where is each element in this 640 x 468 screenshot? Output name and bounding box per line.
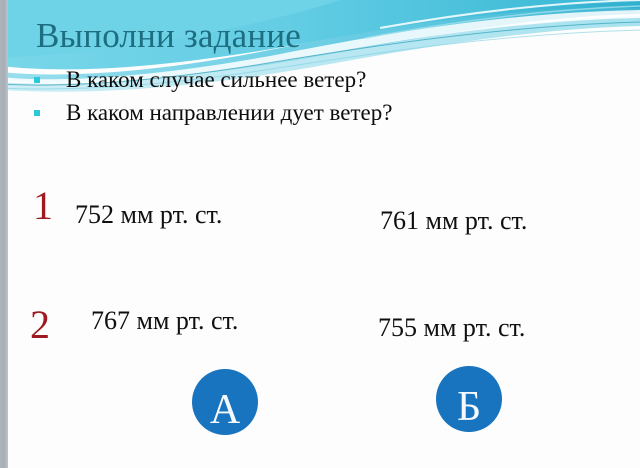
- answer-circle-a[interactable]: А: [192, 369, 258, 435]
- row-number-2: 2: [30, 305, 50, 345]
- answer-circle-b-label: Б: [457, 386, 481, 428]
- slide-canvas: Выполни задание В каком случае сильнее в…: [0, 0, 640, 468]
- answer-circle-b[interactable]: Б: [436, 366, 502, 432]
- pressure-value-row2-right: 755 мм рт. ст.: [378, 313, 525, 343]
- bullet-list: В каком случае сильнее ветер? В каком на…: [34, 64, 594, 130]
- bullet-text: В каком случае сильнее ветер?: [66, 64, 366, 95]
- answer-circle-a-label: А: [210, 389, 240, 431]
- page-title: Выполни задание: [36, 16, 301, 56]
- square-bullet-icon: [34, 77, 40, 83]
- square-bullet-icon: [34, 110, 40, 116]
- list-item: В каком случае сильнее ветер?: [34, 64, 594, 97]
- pressure-value-row1-left: 752 мм рт. ст.: [75, 200, 222, 230]
- slide-left-edge-strip: [0, 0, 8, 468]
- row-number-1: 1: [33, 186, 53, 226]
- pressure-value-row2-left: 767 мм рт. ст.: [91, 306, 238, 336]
- pressure-value-row1-right: 761 мм рт. ст.: [380, 206, 527, 236]
- bullet-text: В каком направлении дует ветер?: [66, 97, 392, 128]
- list-item: В каком направлении дует ветер?: [34, 97, 594, 130]
